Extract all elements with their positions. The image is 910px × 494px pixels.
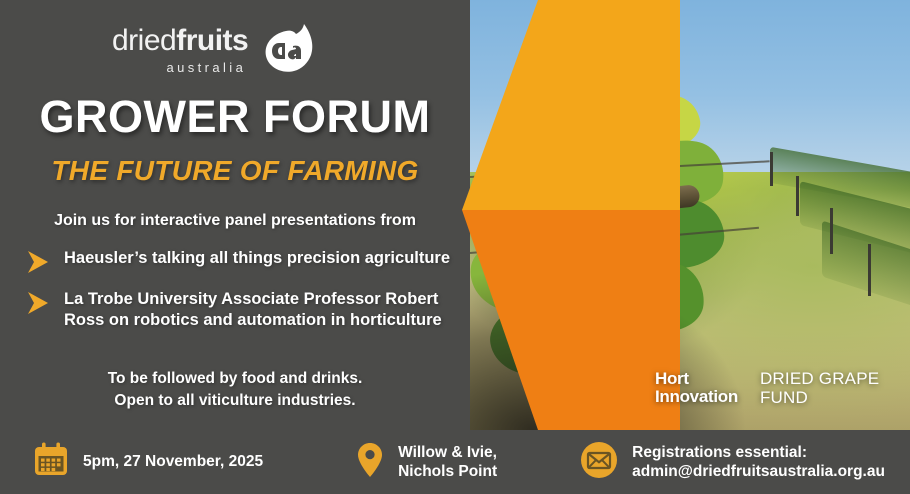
location-line-1: Willow & Ivie, [398,443,497,462]
envelope-icon[interactable] [579,440,619,485]
wordmark-dried: dried [112,24,176,57]
hort-innovation-line-1: Hort [655,370,738,388]
trellis-post-3 [868,244,871,296]
event-date-block: 5pm, 27 November, 2025 [32,441,263,484]
trellis-post-1 [796,176,799,216]
trellis-post-2 [830,208,833,254]
brand-wordmark: driedfruits australia [112,26,248,74]
event-date-text: 5pm, 27 November, 2025 [83,452,263,471]
chevron-lower-half [462,210,680,430]
brand-logo: driedfruits australia [112,26,318,78]
list-item-label: Haeusler’s talking all things precision … [64,248,450,269]
hort-innovation-line-2: Innovation [655,388,738,406]
location-line-2: Nichols Point [398,462,497,481]
list-item-label: La Trobe University Associate Professor … [64,289,476,330]
hort-innovation-logo: Hort Innovation [655,370,738,406]
closing-line-2: Open to all viticulture industries. [0,390,470,412]
dried-grape-fund-logo: DRIED GRAPE FUND [760,370,879,407]
chevron-upper-half [462,0,680,210]
dried-grape-fund-line-1: DRIED GRAPE [760,370,879,389]
trellis-post-4 [770,152,773,186]
da-map-mark-icon [262,22,318,78]
page-title: GROWER FORUM [0,94,470,139]
footer-bar: 5pm, 27 November, 2025 Willow & Ivie, Ni… [0,430,910,494]
chevron-right-icon [26,249,54,275]
registration-email-block[interactable]: Registrations essential: admin@driedfrui… [579,440,885,485]
event-location-block: Willow & Ivie, Nichols Point [355,441,497,484]
closing-line-1: To be followed by food and drinks. [0,368,470,390]
list-item: Haeusler’s talking all things precision … [26,248,476,275]
dried-grape-fund-line-2: FUND [760,389,879,408]
wordmark-fruits: fruits [176,24,248,57]
event-flyer: driedfruits australia GROWER FORUM THE F… [0,0,910,494]
sponsor-logos: Hort Innovation DRIED GRAPE FUND [655,370,879,407]
calendar-icon [32,441,70,484]
list-item: La Trobe University Associate Professor … [26,289,476,330]
closing-note: To be followed by food and drinks. Open … [0,368,470,413]
registration-email-text: Registrations essential: admin@driedfrui… [632,443,885,482]
map-pin-icon [355,441,385,484]
page-subtitle: THE FUTURE OF FARMING [0,157,470,185]
wordmark-australia: australia [166,61,246,74]
wordmark-main: driedfruits [112,26,248,56]
left-content-panel: driedfruits australia GROWER FORUM THE F… [0,0,470,430]
speaker-list: Haeusler’s talking all things precision … [26,248,476,344]
registration-email-address[interactable]: admin@driedfruitsaustralia.org.au [632,462,885,481]
intro-text: Join us for interactive panel presentati… [0,212,470,230]
event-location-text: Willow & Ivie, Nichols Point [398,443,497,482]
chevron-right-icon [26,290,54,316]
registration-line-1: Registrations essential: [632,443,885,462]
